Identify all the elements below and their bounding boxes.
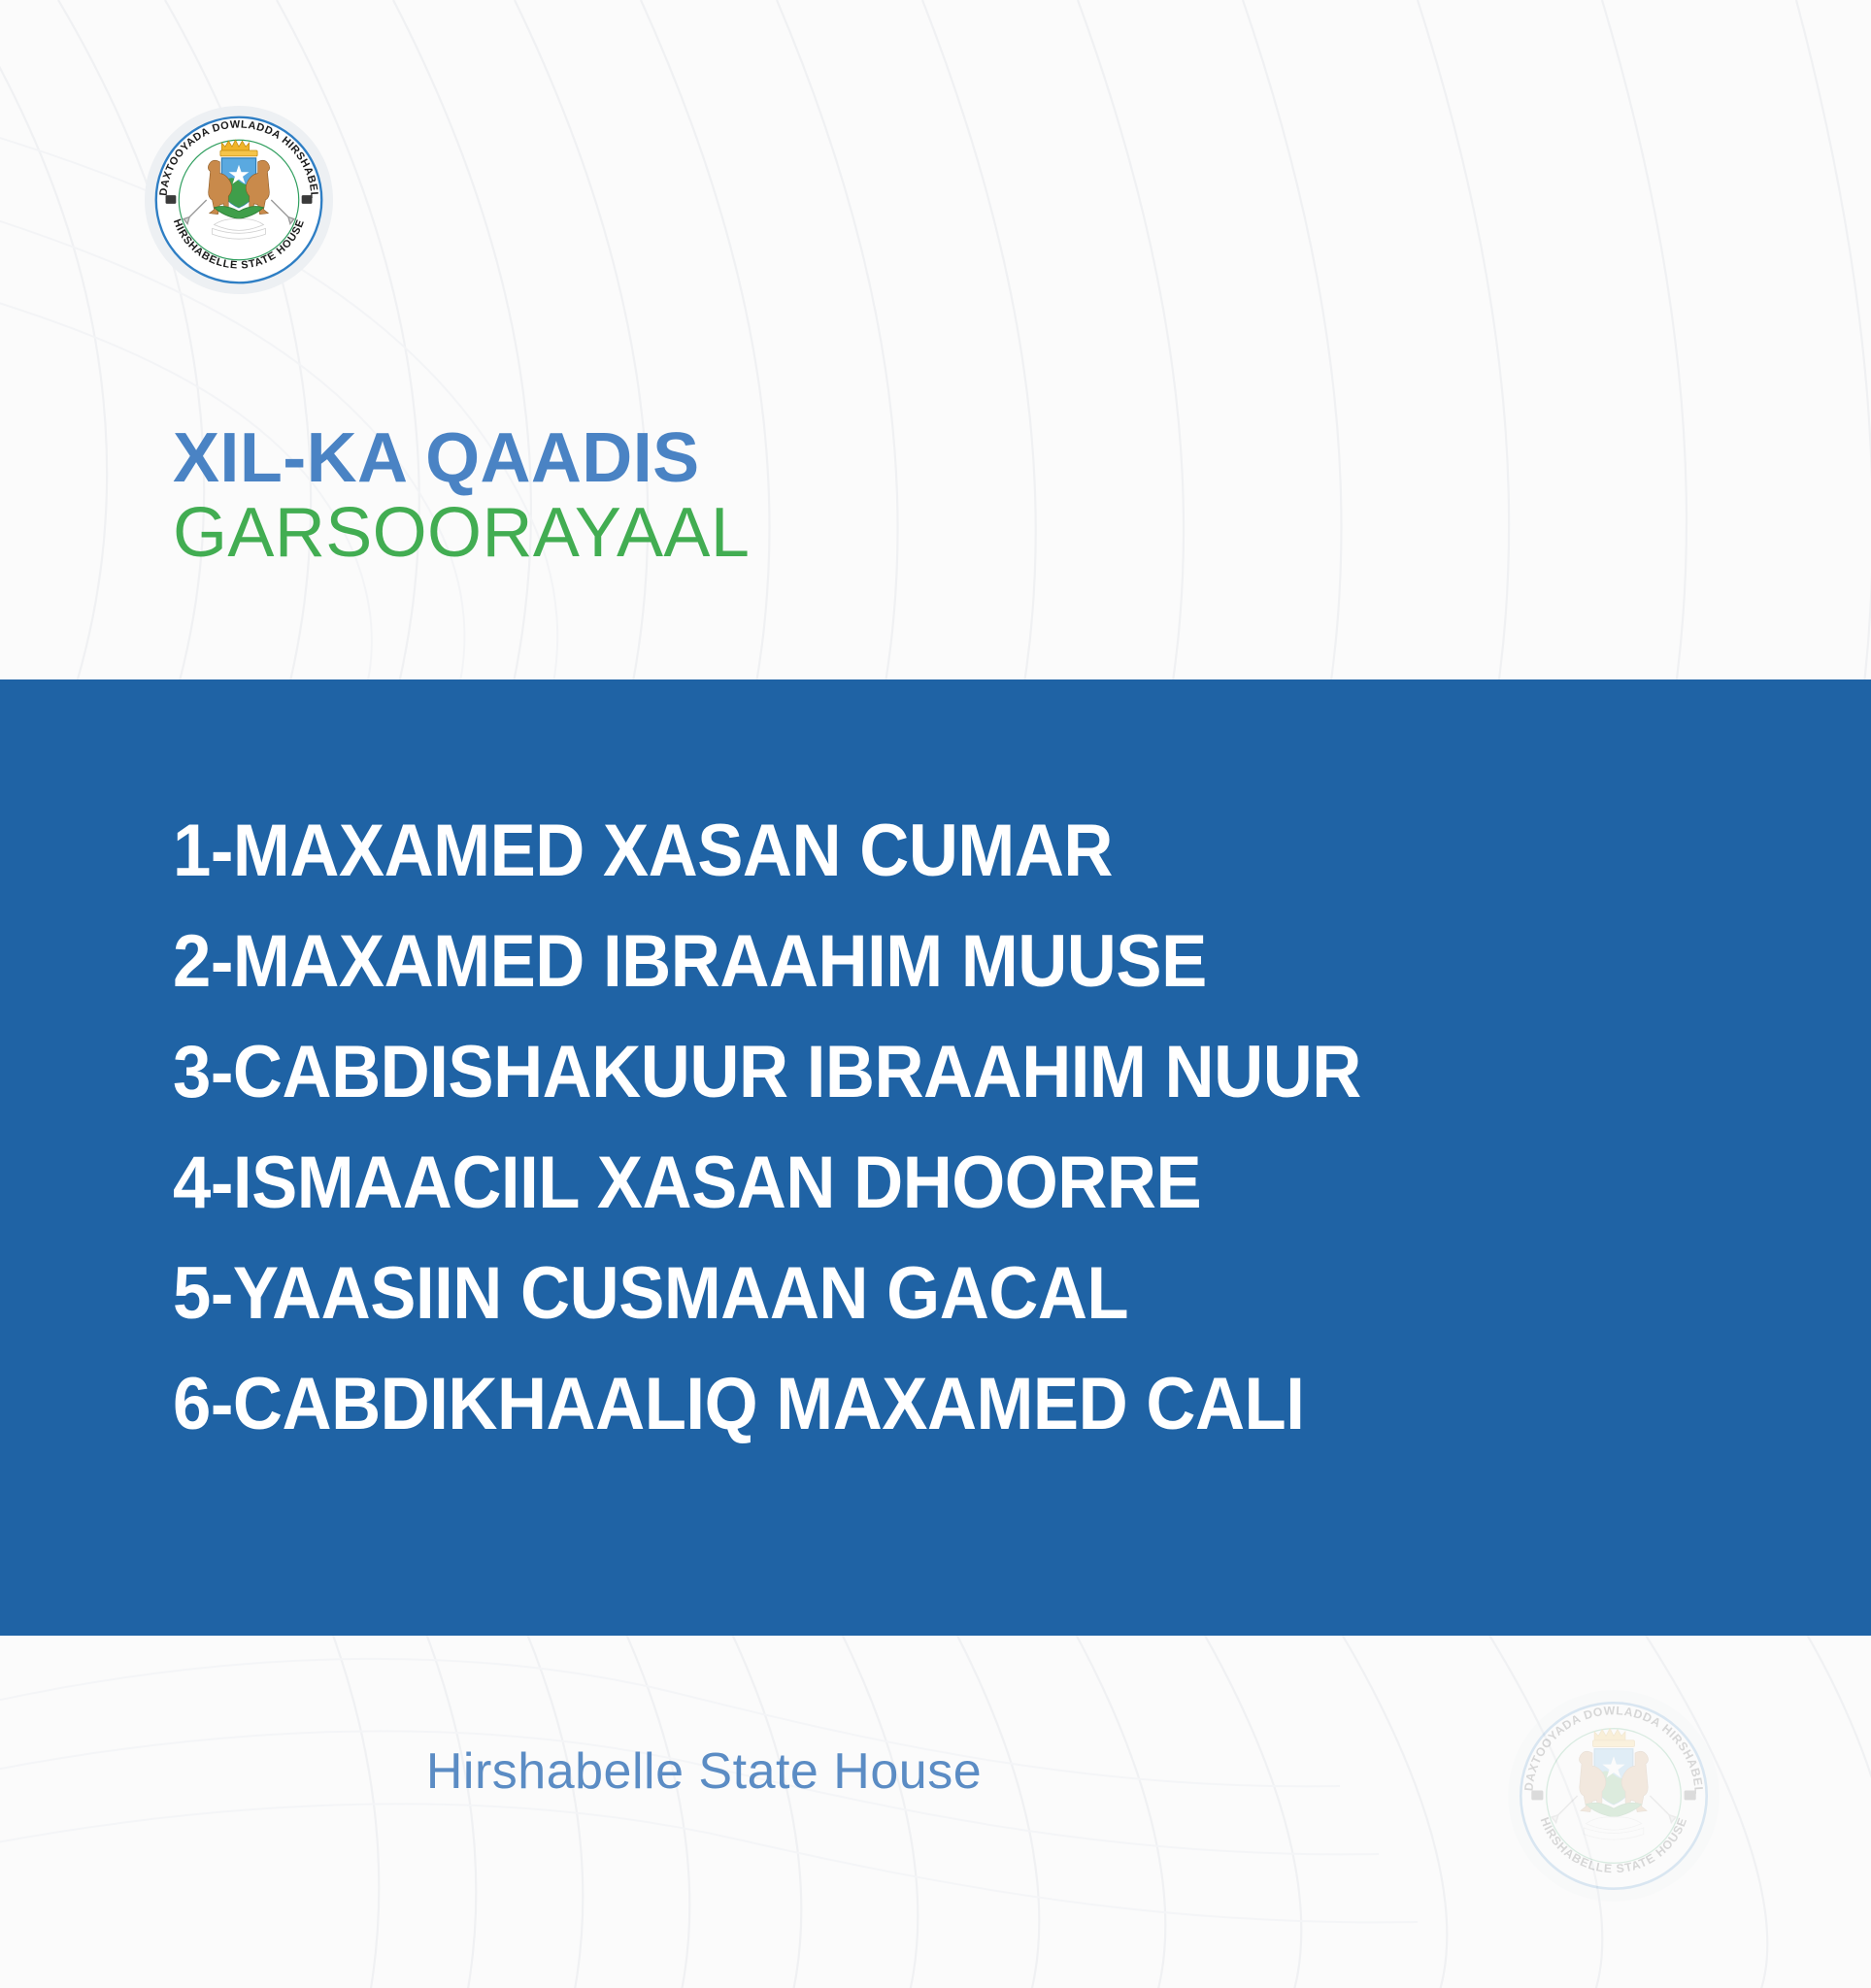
appointed-judges-list: 1-MAXAMED XASAN CUMAR 2-MAXAMED IBRAAHIM… xyxy=(173,796,1823,1460)
page-title: XIL-KA QAADIS xyxy=(173,423,1532,493)
state-seal-emblem: MADAXTOOYADA DOWLADDA HIRSHABELLE HIRSHA… xyxy=(144,105,334,295)
list-item: 1-MAXAMED XASAN CUMAR xyxy=(173,796,1708,907)
state-seal-watermark: MADAXTOOYADA DOWLADDA HIRSHABELLE HIRSHA… xyxy=(1507,1689,1721,1903)
list-item: 3-CABDISHAKUUR IBRAAHIM NUUR xyxy=(173,1017,1708,1128)
list-item: 6-CABDIKHAALIQ MAXAMED CALI xyxy=(173,1349,1708,1460)
page-subtitle: GARSOORAYAAL xyxy=(173,493,1532,575)
heading-block: XIL-KA QAADIS GARSOORAYAAL xyxy=(173,423,1532,575)
list-item: 5-YAASIIN CUSMAAN GACAL xyxy=(173,1239,1708,1349)
list-item: 4-ISMAACIIL XASAN DHOORRE xyxy=(173,1128,1708,1239)
list-item: 2-MAXAMED IBRAAHIM MUUSE xyxy=(173,907,1708,1017)
footer-caption: Hirshabelle State House xyxy=(0,1742,1408,1801)
